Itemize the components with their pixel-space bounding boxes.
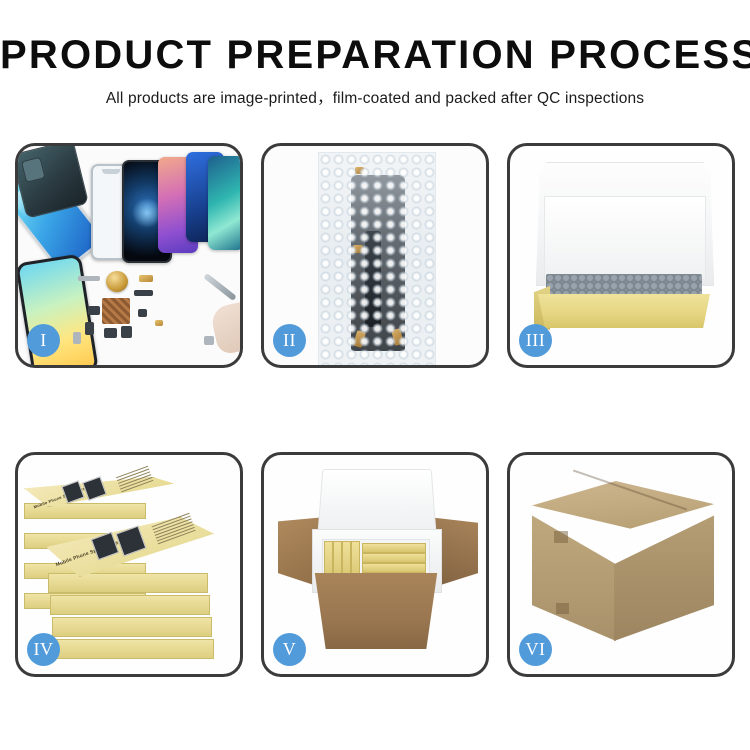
screw-set-part <box>138 309 147 317</box>
header: PRODUCT PREPARATION PROCESS All products… <box>0 34 750 108</box>
carton-body <box>308 573 444 649</box>
stacked-box-front-3 <box>52 617 212 637</box>
carton-tape-lower <box>556 603 569 614</box>
page-subtitle: All products are image-printed，film-coat… <box>0 86 750 108</box>
step-panel-4: Mobile Phone Spare Parts Mobile Phone Sp… <box>15 452 243 677</box>
step-badge-3: III <box>519 324 552 357</box>
step-badge-2: II <box>273 324 306 357</box>
step-panel-2: II <box>261 143 489 368</box>
tweezers-tool <box>203 273 237 301</box>
step-badge-5: V <box>273 633 306 666</box>
step-badge-1: I <box>27 324 60 357</box>
step-panel-1: I <box>15 143 243 368</box>
vibrator-part <box>121 326 132 338</box>
stacked-box-front-2 <box>50 595 210 615</box>
logic-board-part <box>102 298 130 324</box>
stacked-box-front-1 <box>48 573 208 593</box>
packed-box-flat-1 <box>362 543 426 553</box>
gold-contact-part <box>139 275 153 282</box>
carton-right-face <box>614 513 714 641</box>
box-front-yellow <box>538 294 710 328</box>
packed-box-flat-3 <box>362 563 426 573</box>
page-title: PRODUCT PREPARATION PROCESS <box>0 34 750 76</box>
camera-module-part <box>85 322 94 335</box>
carton-tape-upper <box>554 531 568 543</box>
gold-screw-part <box>155 320 163 326</box>
small-bracket-part <box>88 306 100 315</box>
button-flex-part <box>104 328 117 338</box>
sim-tray-part <box>73 332 81 344</box>
phone-display-teal <box>208 156 240 250</box>
bubble-wrap-bag <box>318 152 436 365</box>
step-badge-6: VI <box>519 633 552 666</box>
process-step-grid: I II <box>15 143 735 677</box>
step-panel-3: III <box>507 143 735 368</box>
step-badge-4: IV <box>27 633 60 666</box>
carton-left-face <box>532 513 616 641</box>
flex-cable-part <box>134 290 153 296</box>
packed-box-flat-2 <box>362 553 426 563</box>
step-panel-5: V <box>261 452 489 677</box>
step-panel-6: VI <box>507 452 735 677</box>
loose-screws <box>204 336 214 345</box>
connector-strip <box>78 276 100 281</box>
speaker-component <box>106 271 128 292</box>
styrofoam-lid <box>317 469 436 534</box>
bubble-texture <box>319 153 435 365</box>
product-preparation-infographic: PRODUCT PREPARATION PROCESS All products… <box>0 0 750 750</box>
foam-insert <box>544 196 706 280</box>
stacked-box-front-4 <box>54 639 214 659</box>
technician-hand <box>209 300 240 355</box>
